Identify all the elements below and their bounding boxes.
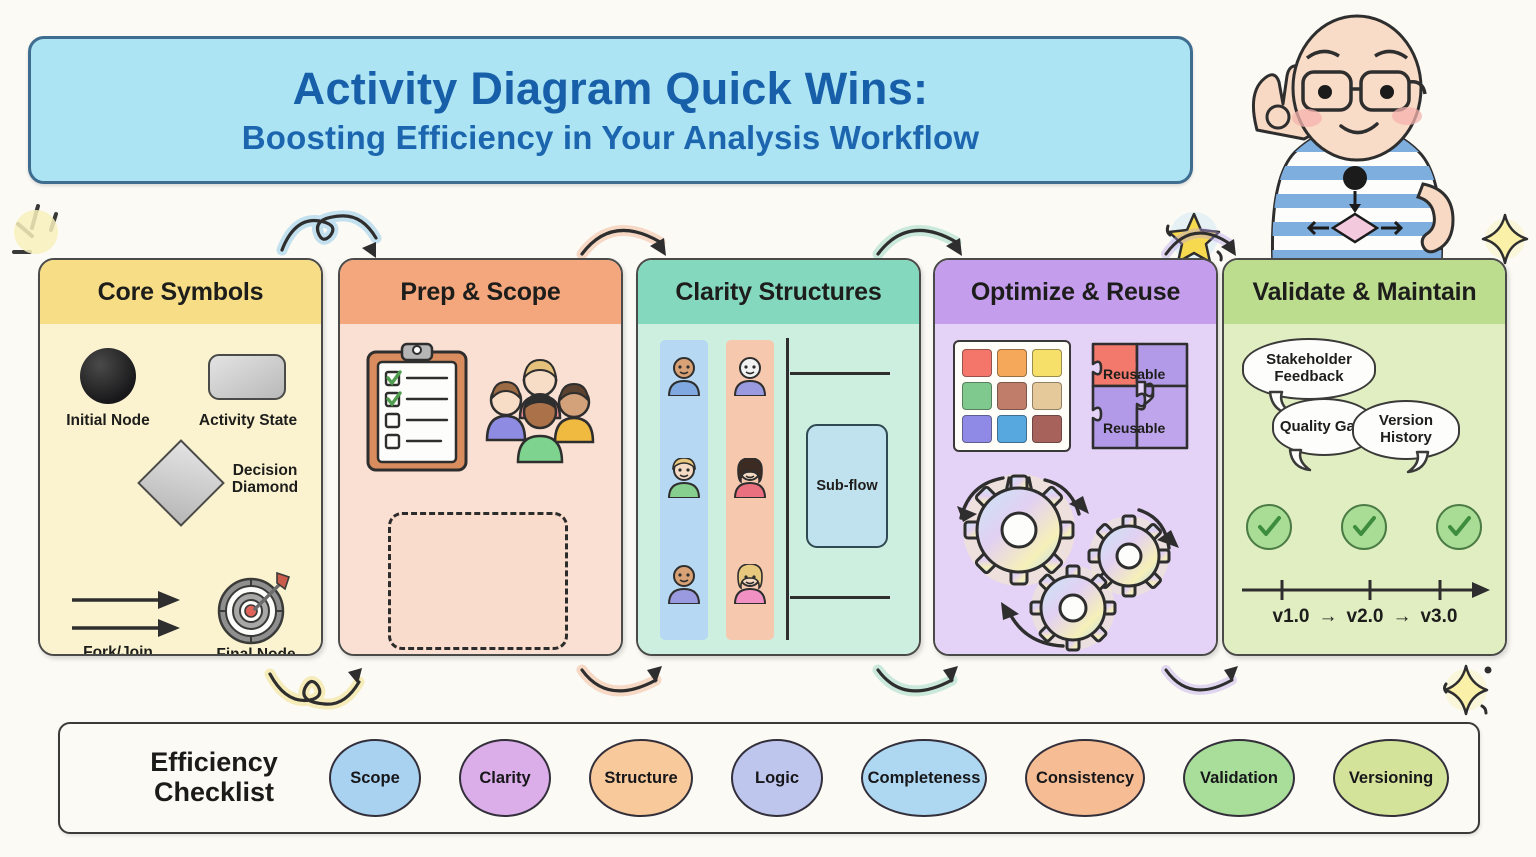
panel-optimize-reuse[interactable]: Optimize & Reuse Reusable Reusable [933, 258, 1218, 656]
chip-label: Consistency [1036, 769, 1134, 788]
infographic-canvas: Activity Diagram Quick Wins: Boosting Ef… [0, 0, 1536, 857]
chip-validation[interactable]: Validation [1183, 739, 1295, 817]
panel-title-core-symbols: Core Symbols [40, 260, 321, 324]
lane-avatar-orange-2 [732, 458, 768, 498]
version-arrow-1: → [1319, 606, 1338, 628]
chip-label: Logic [755, 769, 799, 788]
check-circle-2 [1341, 504, 1387, 550]
arrow-bottom-1-2 [574, 654, 670, 710]
swimlane-divider [786, 338, 789, 640]
scope-boundary-box [388, 512, 568, 650]
lane-avatar-orange-3 [732, 564, 768, 604]
panel-validate-maintain[interactable]: Validate & Maintain Stakeholder Feedback… [1222, 258, 1507, 656]
page-subtitle: Boosting Efficiency in Your Analysis Wor… [242, 121, 980, 156]
chip-label: Validation [1200, 769, 1278, 788]
panel-title-optimize-reuse: Optimize & Reuse [935, 260, 1216, 324]
panel-title-validate-maintain: Validate & Maintain [1224, 260, 1505, 324]
chip-scope[interactable]: Scope [329, 739, 421, 817]
version-arrow-2: → [1392, 606, 1411, 628]
page-title: Activity Diagram Quick Wins: [293, 65, 929, 112]
check-icon [1255, 513, 1283, 541]
puzzle-label-bottom: Reusable [1103, 420, 1165, 436]
version-label-3: v3.0 [1420, 606, 1457, 628]
puzzle-label-top: Reusable [1103, 366, 1165, 382]
decision-diamond-label: Decision Diamond [218, 462, 312, 497]
lane-avatar-blue-3 [666, 564, 702, 604]
panel-title-prep-scope: Prep & Scope [340, 260, 621, 324]
palette-cell [962, 382, 992, 410]
panel-clarity-structures[interactable]: Clarity Structures [636, 258, 921, 656]
panel-core-symbols[interactable]: Core Symbols Initial Node Activity State… [38, 258, 323, 656]
panel-prep-scope[interactable]: Prep & Scope [338, 258, 623, 656]
bubble-stakeholder-feedback[interactable]: Stakeholder Feedback [1242, 338, 1376, 400]
panel-title-clarity-structures: Clarity Structures [638, 260, 919, 324]
version-label-1: v1.0 [1273, 606, 1310, 628]
palette-cell [997, 382, 1027, 410]
lane-avatar-blue-1 [666, 356, 702, 396]
chip-consistency[interactable]: Consistency [1025, 739, 1145, 817]
decision-diamond-icon [137, 439, 225, 527]
title-banner: Activity Diagram Quick Wins: Boosting Ef… [28, 36, 1193, 184]
analyst-mascot [1195, 10, 1525, 270]
chip-label: Structure [604, 769, 677, 788]
initial-node-label: Initial Node [52, 412, 164, 429]
panel-body-prep-scope [340, 324, 621, 656]
checklist-title-line2: Checklist [128, 778, 300, 808]
fork-join-icon [68, 586, 186, 642]
flow-rail-bottom [790, 596, 890, 599]
panel-body-optimize-reuse: Reusable Reusable [935, 324, 1216, 656]
chip-label: Completeness [868, 769, 981, 788]
chip-structure[interactable]: Structure [589, 739, 693, 817]
arrow-bottom-2-3 [870, 654, 966, 710]
palette-cell [1032, 382, 1062, 410]
gears-icon [943, 466, 1205, 652]
palette-grid [953, 340, 1071, 452]
check-circle-1 [1246, 504, 1292, 550]
palette-cell [962, 349, 992, 377]
clipboard-icon [362, 342, 472, 474]
activity-state-label: Activity State [188, 412, 308, 429]
panel-body-core-symbols: Initial Node Activity State Decision Dia… [40, 324, 321, 656]
activity-state-icon [208, 354, 286, 400]
check-icon [1350, 513, 1378, 541]
palette-cell [1032, 349, 1062, 377]
chip-label: Scope [350, 769, 400, 788]
palette-cell [997, 415, 1027, 443]
palette-cell [1032, 415, 1062, 443]
flow-rail-top [790, 372, 890, 375]
people-group-icon [480, 356, 600, 464]
checklist-chips: Scope Clarity Structure Logic Completene… [300, 739, 1478, 817]
bubble-version-history[interactable]: Version History [1352, 400, 1460, 460]
initial-node-icon [80, 348, 136, 404]
arrow-bottom-0-1 [264, 652, 374, 712]
lane-avatar-orange-1 [732, 356, 768, 396]
palette-cell [997, 349, 1027, 377]
lane-avatar-blue-2 [666, 458, 702, 498]
chip-logic[interactable]: Logic [731, 739, 823, 817]
arrow-top-0-1 [276, 206, 386, 264]
final-node-target-icon [215, 569, 291, 645]
efficiency-checklist-bar: Efficiency Checklist Scope Clarity Struc… [58, 722, 1480, 834]
subflow-box[interactable]: Sub-flow [806, 424, 888, 548]
chip-completeness[interactable]: Completeness [861, 739, 987, 817]
chip-clarity[interactable]: Clarity [459, 739, 551, 817]
checklist-title-line1: Efficiency [128, 748, 300, 778]
chip-versioning[interactable]: Versioning [1333, 739, 1449, 817]
version-timeline-axis [1240, 574, 1492, 604]
chip-label: Versioning [1349, 769, 1433, 788]
arrow-top-2-3 [872, 212, 968, 264]
arrow-top-1-2 [576, 212, 672, 264]
panel-body-validate-maintain: Stakeholder Feedback Quality Gate Versio… [1224, 324, 1505, 656]
check-circle-3 [1436, 504, 1482, 550]
version-label-2: v2.0 [1347, 606, 1384, 628]
final-node-label: Final Node [202, 646, 310, 656]
palette-cell [962, 415, 992, 443]
panel-body-clarity-structures: Sub-flow [638, 324, 919, 656]
check-icon [1445, 513, 1473, 541]
arrow-bottom-3-4 [1158, 656, 1244, 710]
chip-label: Clarity [479, 769, 530, 788]
version-labels: v1.0 → v2.0 → v3.0 [1236, 606, 1494, 628]
sparkle-bottom-right-icon [1432, 658, 1498, 722]
fork-join-label: Fork/Join [58, 644, 178, 656]
checklist-title: Efficiency Checklist [60, 748, 300, 807]
